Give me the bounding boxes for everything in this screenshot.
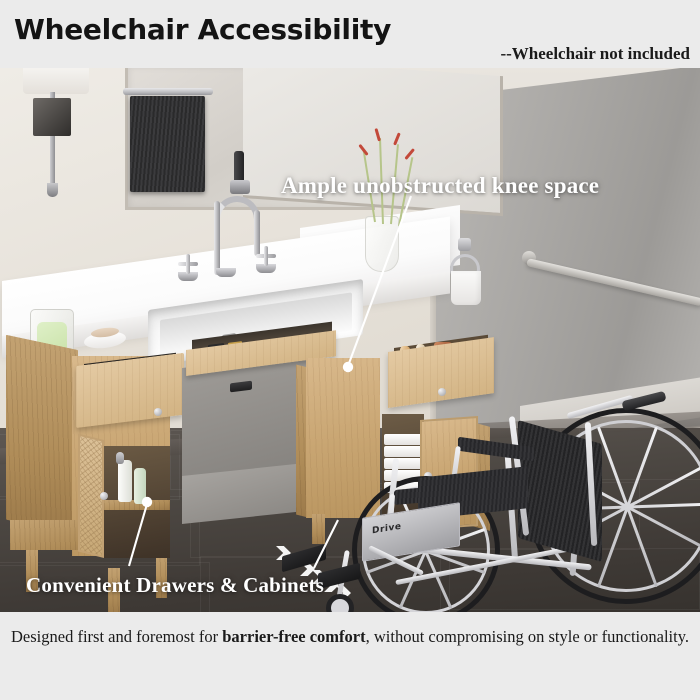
glass-vase: [365, 216, 399, 272]
cabinet-door-knob[interactable]: [100, 492, 108, 500]
drawer-knob[interactable]: [154, 408, 162, 416]
caption-tail: , without compromising on style or funct…: [366, 627, 689, 646]
lotion-bottle: [118, 460, 132, 502]
soap-bottle: [134, 468, 146, 504]
vanity-left-side-panel: [6, 335, 78, 535]
valve-cap: [230, 180, 250, 194]
faucet-center-base: [216, 268, 236, 277]
hand-towel: [451, 271, 481, 305]
callout-drawers-cabinets: Convenient Drawers & Cabinets: [26, 573, 324, 598]
sconce-shade: [23, 68, 89, 94]
product-photo: Drive Ample unobstructed knee space Conv…: [0, 68, 700, 612]
wheelchair: Drive: [330, 398, 700, 612]
bottle-pump: [116, 452, 124, 464]
dark-towel: [130, 96, 205, 192]
page-title: Wheelchair Accessibility: [14, 13, 391, 47]
accessibility-feature-panel: Wheelchair Accessibility --Wheelchair no…: [0, 0, 700, 700]
towel-bar: [123, 88, 213, 95]
faucet-spout-column: [214, 201, 220, 275]
caption-text: Designed first and foremost for barrier-…: [11, 624, 691, 649]
towel-ring-mount: [458, 238, 471, 251]
caption-lead: Designed first and foremost for: [11, 627, 222, 646]
caster-wheel: [326, 594, 354, 612]
drawer-knob[interactable]: [438, 388, 446, 396]
header-bar: Wheelchair Accessibility --Wheelchair no…: [0, 0, 700, 68]
faucet-handle-right: [256, 246, 276, 266]
caption-bar: Designed first and foremost for barrier-…: [0, 612, 700, 700]
left-open-drawer[interactable]: [76, 353, 184, 428]
vanity-leg: [312, 514, 325, 544]
faucet-handle-left: [178, 254, 198, 274]
callout-knee-space: Ample unobstructed knee space: [281, 173, 599, 199]
sconce-backplate: [33, 98, 71, 136]
caption-emphasis: barrier-free comfort: [222, 627, 365, 646]
disclaimer-note: --Wheelchair not included: [500, 44, 690, 64]
sconce-pull-knob: [47, 183, 58, 197]
